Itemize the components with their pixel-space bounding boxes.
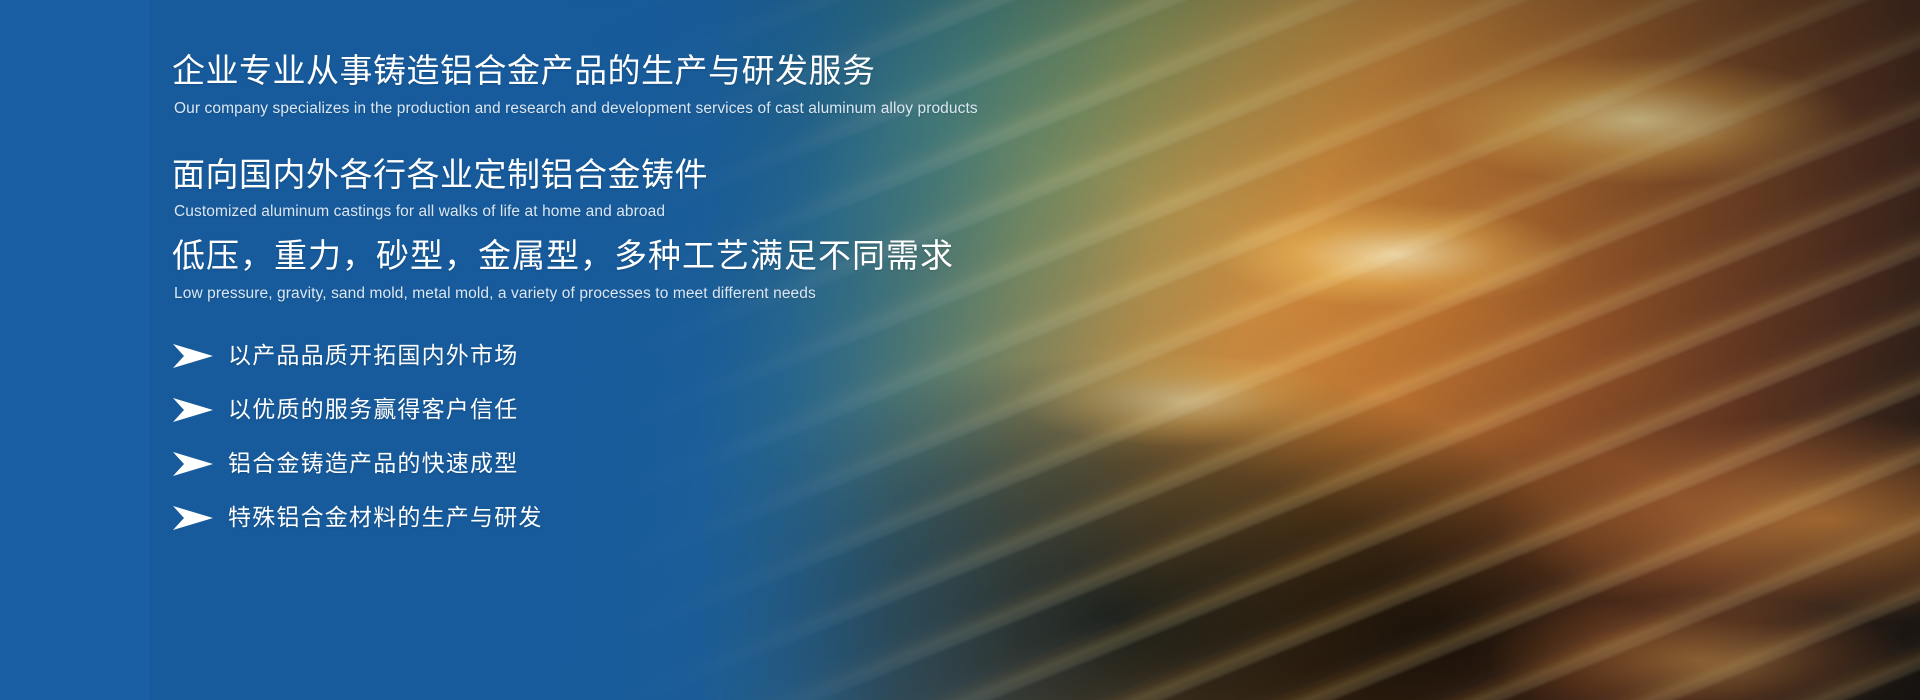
banner-content: 企业专业从事铸造铝合金产品的生产与研发服务 Our company specia… [0,0,1100,700]
headline-block-2: 面向国内外各行各业定制铝合金铸件 Customized aluminum cas… [172,154,1100,224]
list-item-label: 以产品品质开拓国内外市场 [228,344,518,367]
headline-3-en: Low pressure, gravity, sand mold, metal … [174,284,1100,305]
arrow-right-icon [172,397,214,423]
arrow-right-icon [172,505,214,531]
arrow-right-icon [172,451,214,477]
headline-3-cn: 低压，重力，砂型，金属型，多种工艺满足不同需求 [172,235,1100,277]
list-item[interactable]: 特殊铝合金材料的生产与研发 [172,505,1100,531]
headline-block-1: 企业专业从事铸造铝合金产品的生产与研发服务 Our company specia… [172,50,1100,120]
list-item[interactable]: 以优质的服务赢得客户信任 [172,397,1100,423]
list-item[interactable]: 以产品品质开拓国内外市场 [172,343,1100,369]
headline-2-en: Customized aluminum castings for all wal… [174,202,1100,223]
list-item-label: 铝合金铸造产品的快速成型 [228,452,518,475]
list-item-label: 特殊铝合金材料的生产与研发 [228,506,543,529]
list-item-label: 以优质的服务赢得客户信任 [228,398,518,421]
hero-banner: 企业专业从事铸造铝合金产品的生产与研发服务 Our company specia… [0,0,1920,700]
feature-bullet-list: 以产品品质开拓国内外市场 以优质的服务赢得客户信任 铝合金铸造产品的快速成型 特… [172,343,1100,531]
headline-1-cn: 企业专业从事铸造铝合金产品的生产与研发服务 [172,50,1100,92]
headline-1-en: Our company specializes in the productio… [174,99,1100,120]
headline-2-cn: 面向国内外各行各业定制铝合金铸件 [172,154,1100,196]
list-item[interactable]: 铝合金铸造产品的快速成型 [172,451,1100,477]
headline-block-3: 低压，重力，砂型，金属型，多种工艺满足不同需求 Low pressure, gr… [172,235,1100,305]
arrow-right-icon [172,343,214,369]
